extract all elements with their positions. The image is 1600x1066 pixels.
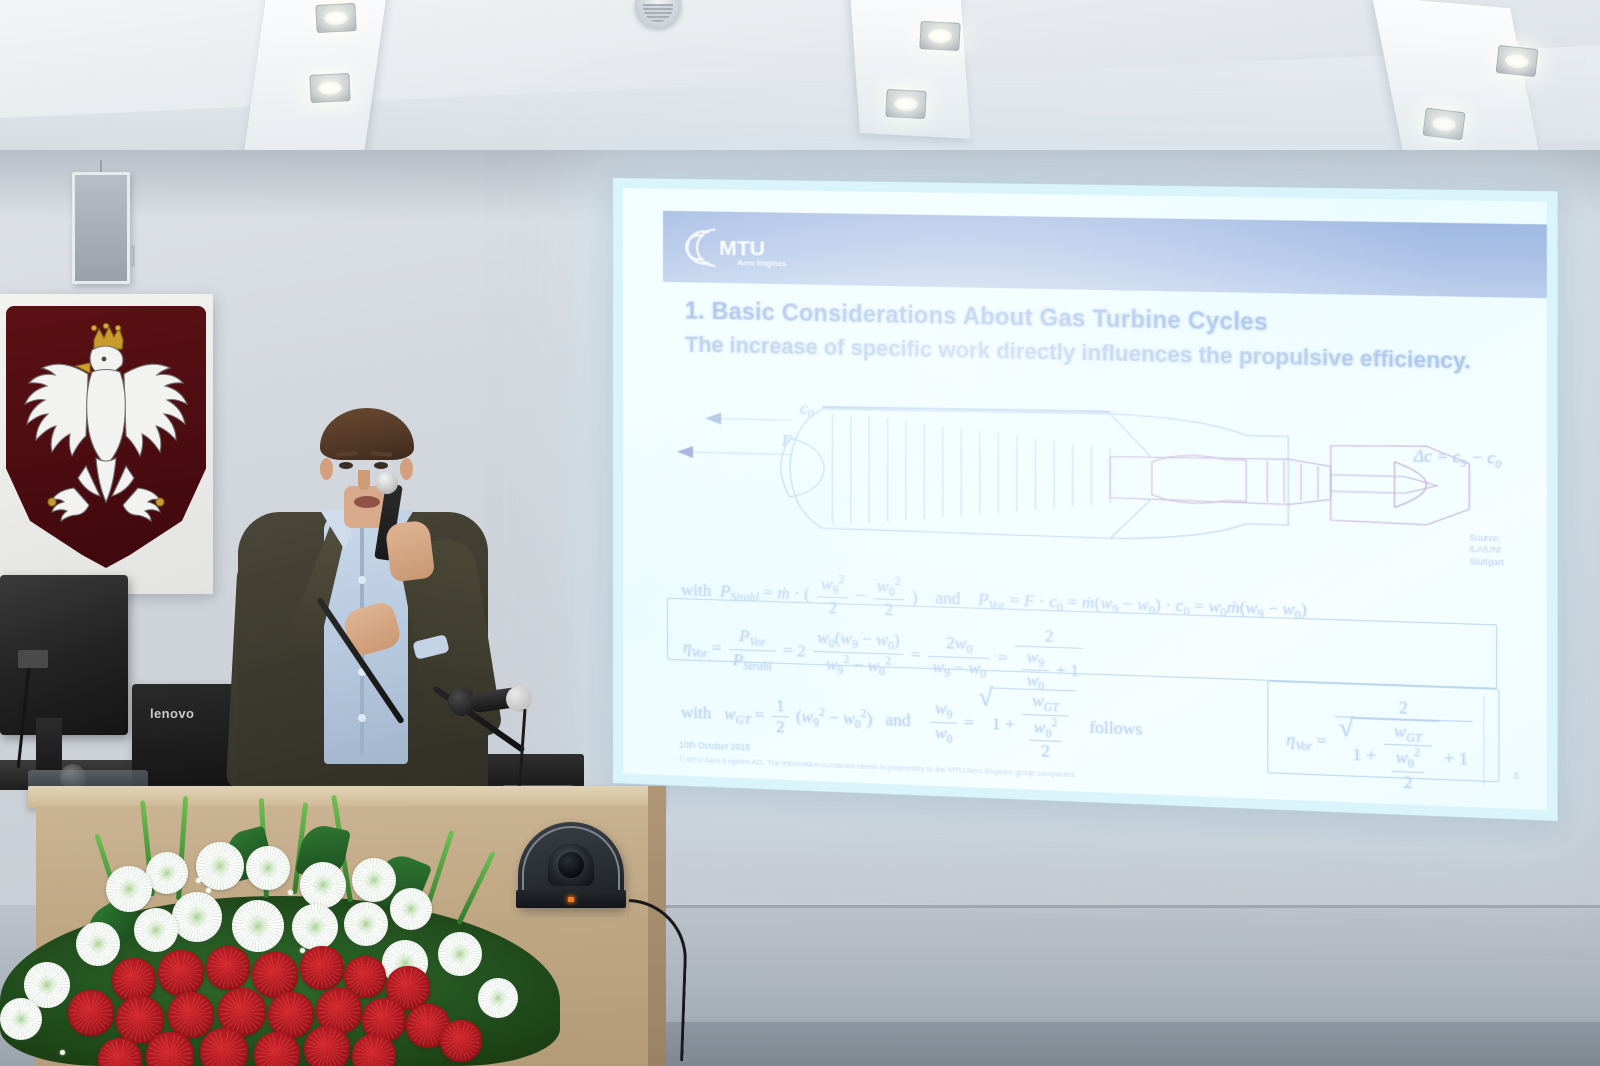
figure-source-caption: Source: ILA/UNI Stuttgart [1469, 532, 1523, 569]
white-gerbera [196, 842, 244, 890]
shirt-button [358, 714, 366, 722]
monitor-stand [36, 718, 62, 770]
red-carnation [168, 992, 214, 1038]
shirt-button [358, 576, 366, 584]
white-gerbera [344, 902, 388, 946]
slide-footer-divider [1483, 697, 1484, 786]
presenter-hand-holding-mic [385, 520, 436, 583]
white-gerbera [352, 858, 396, 902]
red-carnation [304, 1026, 350, 1066]
presenter-nose [358, 470, 370, 490]
white-gerbera [246, 846, 290, 890]
turbofan-engine-figure: c0 F Δc = c9 − c0 Source: ILA/UNI Stuttg… [671, 387, 1523, 583]
formula-with-keyword-2: with [681, 702, 711, 722]
slide-subheading: The increase of specific work directly i… [685, 331, 1474, 374]
white-gerbera [146, 852, 188, 894]
red-carnation [352, 1034, 396, 1066]
white-gerbera [172, 892, 222, 942]
ceiling-spotlight-icon [1422, 108, 1465, 141]
red-carnation [158, 950, 204, 996]
flower-arrangement [0, 800, 580, 1066]
speaker-bracket [130, 245, 135, 267]
babys-breath [60, 1050, 65, 1055]
lenovo-brand-label: lenovo [150, 706, 194, 721]
mtu-logo-icon: MTU Aero Engines [685, 223, 818, 274]
presenter-person [228, 400, 498, 820]
formula-and-keyword-2: and [885, 710, 910, 730]
formula-specific-work-relation: with wGT = 12 (w92 − w02) and w9w0 = 1 +… [681, 676, 1142, 765]
mtu-tagline-text: Aero Engines [737, 258, 786, 268]
engine-cross-section-icon [671, 387, 1523, 583]
red-carnation [254, 1032, 300, 1066]
source-label-line2: ILA/UNI Stuttgart [1469, 544, 1523, 569]
inlet-velocity-label: c0 [800, 398, 814, 421]
slide-heading: 1. Basic Considerations About Gas Turbin… [685, 297, 1268, 336]
red-carnation [206, 946, 250, 990]
presenter-eye [339, 462, 353, 469]
formula-and-keyword: and [935, 588, 960, 608]
presenter-eye [374, 462, 388, 469]
white-gerbera [0, 998, 42, 1040]
formula-final-efficiency: ηVor = 2 1 + wGTw022 + 1 [1286, 694, 1475, 796]
mtu-brand-text: MTU [719, 237, 765, 261]
ceiling-spotlight-icon [1496, 45, 1539, 77]
ceiling-spotlight-icon [885, 89, 926, 119]
presentation-slide: MTU Aero Engines 1. Basic Considerations… [623, 188, 1547, 810]
grass-blade [456, 851, 496, 925]
ceiling-spotlight-icon [309, 73, 350, 103]
microphone-windscreen-icon [506, 686, 532, 712]
slide-page-number: 8 [1514, 770, 1519, 781]
red-carnation [200, 1028, 248, 1066]
floor [620, 1022, 1600, 1066]
white-gerbera [390, 888, 432, 930]
presenter-ear [400, 458, 413, 480]
white-gerbera [106, 866, 152, 912]
white-gerbera [292, 904, 338, 950]
babys-breath [116, 900, 121, 905]
delta-c-label: Δc = c9 − c0 [1414, 446, 1501, 471]
presenter-hair [320, 408, 414, 460]
red-carnation [68, 990, 114, 1036]
formula-follows-keyword: follows [1089, 717, 1142, 738]
ceiling-spotlight-icon [919, 21, 960, 51]
white-gerbera [478, 978, 518, 1018]
white-gerbera [76, 922, 120, 966]
presenter-ear [320, 458, 333, 480]
monitor-port [18, 650, 48, 668]
white-gerbera [232, 900, 284, 952]
white-eagle-icon [12, 316, 200, 546]
thrust-label: F [782, 431, 793, 451]
polish-coat-of-arms [0, 294, 213, 594]
wall-trim-line [600, 905, 1600, 908]
slide-footer-date: 10th October 2018 [679, 740, 750, 753]
presentation-room-photo: MTU Aero Engines 1. Basic Considerations… [0, 0, 1600, 1066]
presenter-mouth [354, 496, 380, 508]
white-gerbera [134, 908, 178, 952]
babys-breath [288, 890, 293, 895]
ceiling-spotlight-icon [315, 3, 356, 33]
red-carnation [440, 1020, 482, 1062]
babys-breath [196, 878, 201, 883]
projection-screen: MTU Aero Engines 1. Basic Considerations… [613, 178, 1558, 821]
wall-speaker-icon [72, 172, 130, 284]
formula-with-keyword: with [681, 580, 711, 600]
babys-breath [206, 888, 211, 893]
white-gerbera [438, 932, 482, 976]
white-gerbera [300, 862, 346, 908]
red-carnation [300, 946, 344, 990]
